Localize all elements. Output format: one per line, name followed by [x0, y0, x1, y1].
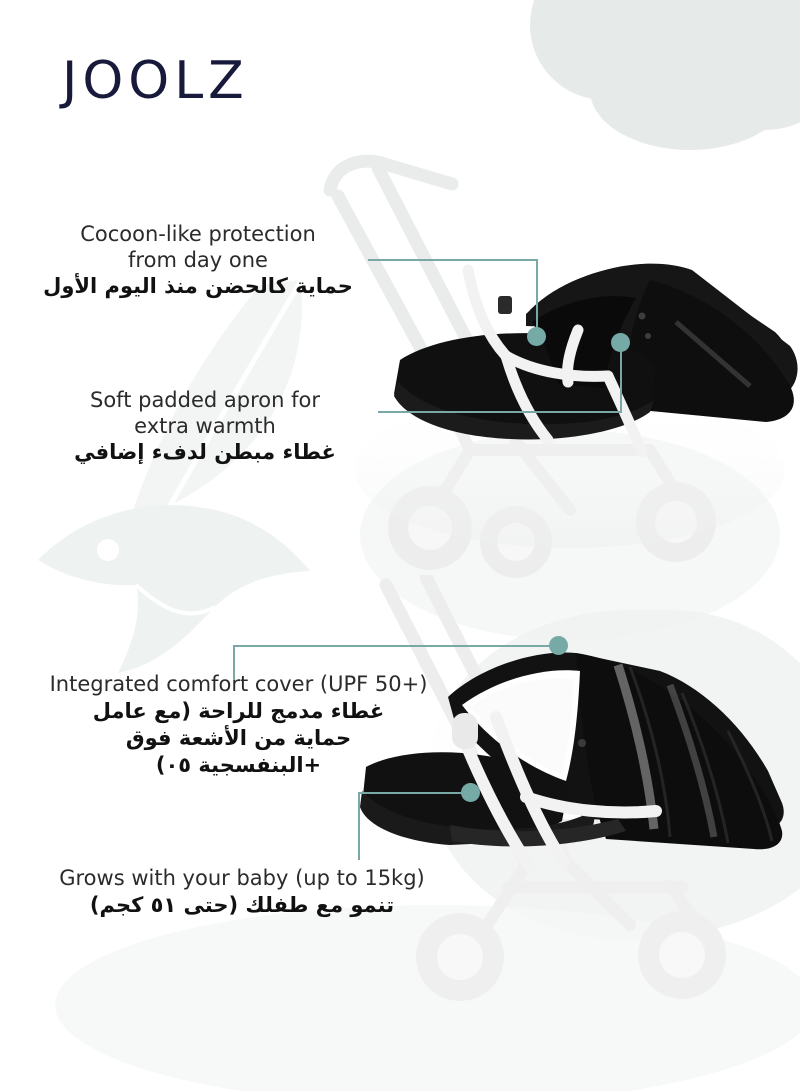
product-feature-infographic: JOOLZ [0, 0, 800, 1091]
callout-text-ar: غطاء مبطن لدفء إضافي [30, 439, 380, 466]
callout-cocoon-protection: Cocoon-like protection from day one حماي… [18, 222, 378, 301]
product-image-bassinet-stroller [320, 150, 800, 580]
callout-text-en: Grows with your baby (up to 15kg) [12, 866, 472, 892]
brand-logo: JOOLZ [62, 55, 249, 107]
bassinet-cocoon [394, 264, 798, 440]
callout-text-ar: حماية كالحضن منذ اليوم الأول [18, 273, 378, 300]
callout-dot-cocoon [527, 327, 546, 346]
callout-text-en: Soft padded apron for extra warmth [30, 388, 380, 439]
callout-grows-with-baby: Grows with your baby (up to 15kg) تنمو م… [12, 866, 472, 919]
callout-text-ar: تنمو مع طفلك (حتى ١٥ كجم) [12, 892, 472, 919]
callout-text-ar: غطاء مدمج للراحة (مع عامل حماية من الأشع… [6, 698, 471, 780]
callout-text-en: Integrated comfort cover (UPF 50+) [6, 672, 471, 698]
cloud-shape-decor [530, 0, 800, 150]
callout-text-en: Cocoon-like protection from day one [18, 222, 378, 273]
callout-comfort-cover: Integrated comfort cover (UPF 50+) غطاء … [6, 672, 471, 780]
callout-dot-grows [461, 783, 480, 802]
callout-dot-apron [611, 333, 630, 352]
callout-dot-comfort [549, 636, 568, 655]
callout-padded-apron: Soft padded apron for extra warmth غطاء … [30, 388, 380, 467]
